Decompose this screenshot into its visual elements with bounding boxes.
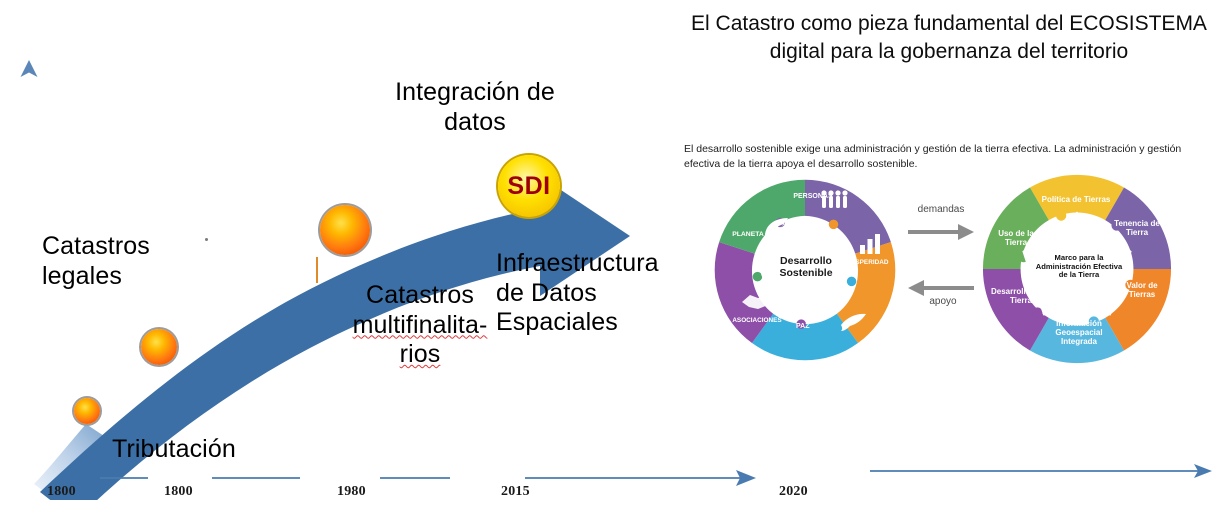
flow-label-demandas: demandas bbox=[908, 204, 974, 215]
dove-icon bbox=[838, 311, 868, 333]
label-ide-line3: Espaciales bbox=[496, 308, 676, 338]
tick-label-1800-b: 1800 bbox=[164, 484, 193, 500]
leaf-icon bbox=[762, 217, 790, 243]
label-multifinalitarios-line2: multifinalita- bbox=[330, 311, 510, 341]
label-catastros-multifinalitarios: Catastros multifinalita- rios bbox=[330, 281, 510, 370]
ecosystem-title: El Catastro como pieza fundamental del E… bbox=[682, 10, 1216, 65]
label-ide-line2: de Datos bbox=[496, 279, 676, 309]
ecosystem-panel: El Catastro como pieza fundamental del E… bbox=[672, 0, 1224, 526]
land-administration-wheel[interactable]: Marco para la Administración Efectiva de… bbox=[978, 170, 1176, 368]
tick-label-1800-a: 1800 bbox=[47, 484, 76, 500]
annotation-tick bbox=[316, 257, 318, 283]
timeline-node-tributacion[interactable] bbox=[74, 398, 100, 424]
flow-label-apoyo: apoyo bbox=[910, 296, 976, 307]
label-tributacion-text: Tributación bbox=[112, 435, 236, 463]
timeline-node-catastros-legales[interactable] bbox=[141, 329, 177, 365]
demandas-arrow bbox=[906, 222, 976, 242]
label-integracion-datos: Integración de datos bbox=[378, 78, 572, 137]
label-multifinalitarios-line3: rios bbox=[330, 340, 510, 370]
growth-curve-chart: SDI Catastros legales Tributación Integr… bbox=[0, 0, 680, 526]
timeline-node-catastros-multifinalitarios[interactable] bbox=[320, 205, 370, 255]
label-multifinalitarios-line1: Catastros bbox=[330, 281, 510, 311]
label-ide-line1: Infraestructura bbox=[496, 249, 676, 279]
label-infraestructura-datos-espaciales: Infraestructura de Datos Espaciales bbox=[496, 249, 676, 338]
ecosystem-paragraph: El desarrollo sostenible exige una admin… bbox=[684, 142, 1212, 172]
tick-label-2015: 2015 bbox=[501, 484, 530, 500]
label-catastros-legales: Catastros legales bbox=[42, 232, 232, 291]
label-integracion-datos-text: Integración de datos bbox=[395, 78, 555, 136]
bar-chart-icon bbox=[858, 233, 882, 255]
sdi-badge[interactable]: SDI bbox=[498, 155, 560, 217]
apoyo-arrow bbox=[906, 278, 976, 298]
people-icon bbox=[820, 189, 848, 209]
sdg-wheel[interactable]: Desarrollo Sostenible PERSONAS PROSPERID… bbox=[710, 175, 900, 365]
ecosystem-bottom-arrow bbox=[868, 462, 1216, 480]
tick-label-1980: 1980 bbox=[337, 484, 366, 500]
label-catastros-legales-text: Catastros legales bbox=[42, 232, 150, 290]
label-tributacion: Tributación bbox=[112, 435, 322, 465]
handshake-icon bbox=[740, 291, 770, 313]
